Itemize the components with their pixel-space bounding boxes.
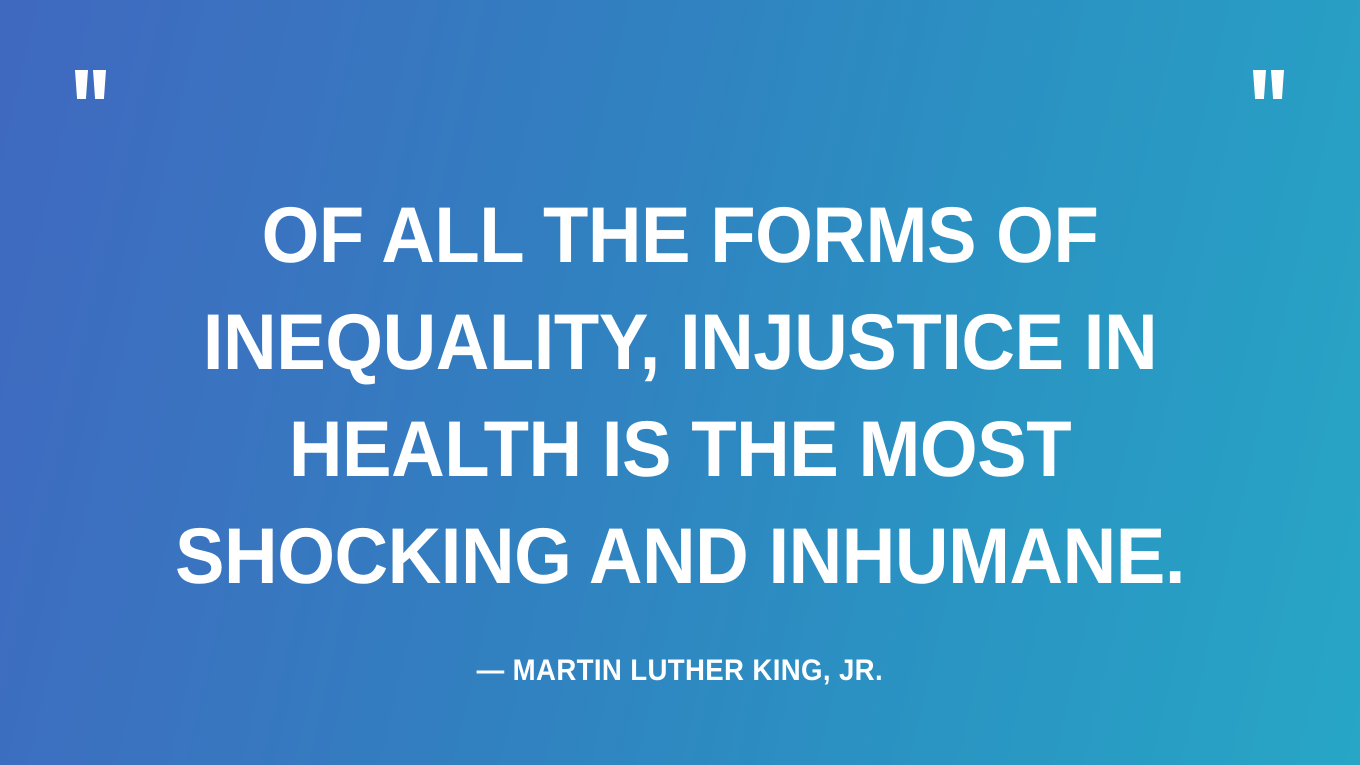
quote-line: SHOCKING AND INHUMANE. — [116, 502, 1244, 609]
quote-line: OF ALL THE FORMS OF — [116, 181, 1244, 288]
quote-card: OF ALL THE FORMS OF INEQUALITY, INJUSTIC… — [0, 0, 1360, 765]
quote-line: INEQUALITY, INJUSTICE IN — [116, 288, 1244, 395]
quote-line: HEALTH IS THE MOST — [116, 395, 1244, 502]
quote-attribution: — MARTIN LUTHER KING, JR. — [477, 656, 883, 686]
quote-content: OF ALL THE FORMS OF INEQUALITY, INJUSTIC… — [0, 0, 1360, 765]
quote-text: OF ALL THE FORMS OF INEQUALITY, INJUSTIC… — [116, 181, 1244, 609]
